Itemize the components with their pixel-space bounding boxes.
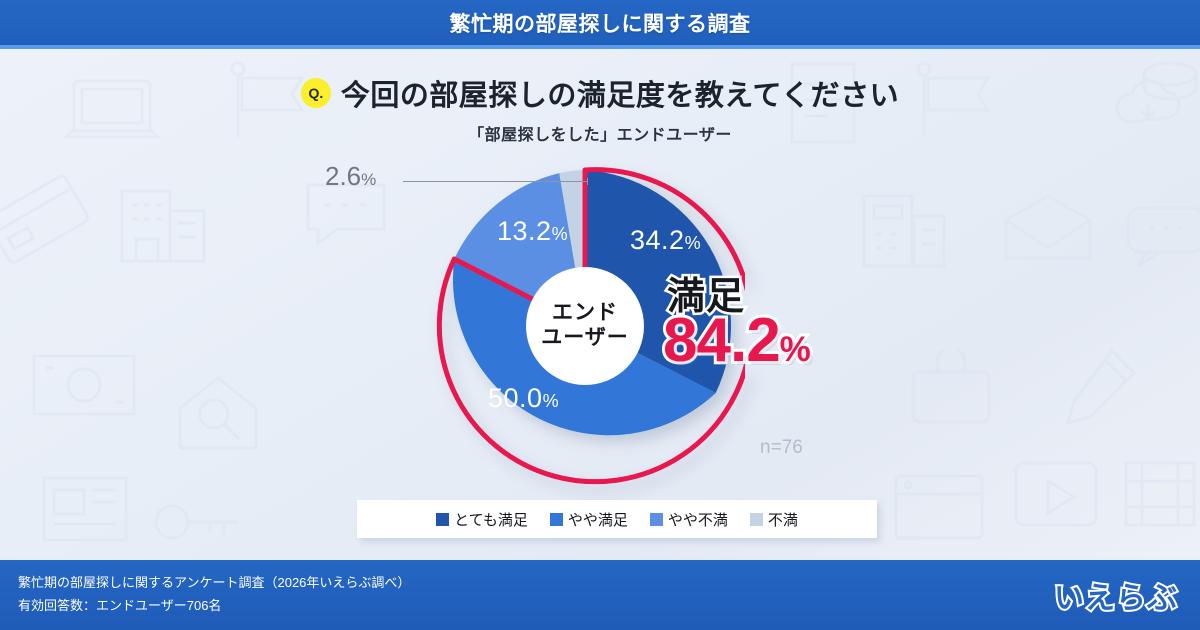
satisfaction-callout: 満足 84.2% — [663, 278, 810, 372]
header-accent-stripe — [0, 45, 1200, 49]
legend-label: やや満足 — [568, 509, 628, 530]
film-icon — [1120, 455, 1200, 533]
footer-bar: 繁忙期の部屋探しに関するアンケート調査（2026年いえらぶ調べ） 有効回答数：エ… — [0, 560, 1200, 630]
donut-center-line1: エンド — [552, 301, 618, 326]
legend-swatch — [650, 513, 663, 526]
question-subtitle: 「部屋探しをした」エンドユーザー — [0, 121, 1200, 145]
home-search-icon — [170, 370, 266, 454]
question-badge: Q. — [301, 78, 331, 108]
footer-line-1: 繁忙期の部屋探しに関するアンケート調査（2026年いえらぶ調べ） — [18, 572, 410, 595]
bag-icon — [905, 350, 997, 428]
callout-value: 84.2% — [663, 310, 810, 372]
calculator-icon — [860, 190, 948, 272]
building-icon — [118, 185, 210, 265]
money-icon — [30, 350, 140, 420]
legend-swatch — [550, 513, 563, 526]
legend-swatch — [750, 513, 763, 526]
play-icon — [1010, 455, 1102, 533]
chat-icon — [1120, 200, 1200, 274]
sample-size-label: n=76 — [760, 437, 803, 459]
question-line: Q. 今回の部屋探しの満足度を教えてください — [0, 72, 1200, 114]
legend-swatch — [436, 513, 449, 526]
ielove-logo[interactable]: いえらぶ — [1054, 573, 1182, 617]
slice-label-yaya-fuman: 13.2% — [497, 216, 568, 247]
credit-card-icon — [0, 164, 98, 271]
donut-center-line2: ユーザー — [541, 326, 629, 351]
slice-label-totemo-manzoku: 34.2% — [630, 225, 701, 256]
slice-label-fuman: 2.6% — [325, 161, 376, 192]
legend-item-fuman[interactable]: 不満 — [750, 509, 798, 530]
window-icon — [890, 470, 988, 544]
question-block: Q. 今回の部屋探しの満足度を教えてください 「部屋探しをした」エンドユーザー — [0, 72, 1200, 145]
legend-label: とても満足 — [454, 509, 528, 530]
question-text: 今回の部屋探しの満足度を教えてください — [341, 72, 899, 114]
newspaper-icon — [40, 470, 140, 546]
leader-line — [403, 181, 588, 182]
legend-label: やや不満 — [668, 509, 728, 530]
legend-item-yaya-manzoku[interactable]: やや満足 — [550, 509, 628, 530]
footer-source: 繁忙期の部屋探しに関するアンケート調査（2026年いえらぶ調べ） 有効回答数：エ… — [18, 572, 410, 618]
key-icon — [150, 490, 246, 554]
donut-center-label: エンド ユーザー — [526, 267, 644, 385]
page-title: 繁忙期の部屋探しに関する調査 — [450, 8, 751, 38]
chart-legend: とても満足 やや満足 やや不満 不満 — [357, 500, 877, 538]
header-bar: 繁忙期の部屋探しに関する調査 — [0, 0, 1200, 45]
legend-item-yaya-fuman[interactable]: やや不満 — [650, 509, 728, 530]
report-canvas: 繁忙期の部屋探しに関する調査 Q. 今回の部屋探しの満足度を教えてください 「部… — [0, 0, 1200, 630]
legend-label: 不満 — [768, 509, 798, 530]
slice-label-yaya-manzoku: 50.0% — [488, 383, 559, 414]
legend-item-totemo-manzoku[interactable]: とても満足 — [436, 509, 528, 530]
envelope-icon — [1000, 190, 1096, 264]
pencil-icon — [1060, 345, 1142, 431]
footer-line-2: 有効回答数：エンドユーザー706名 — [18, 595, 410, 618]
